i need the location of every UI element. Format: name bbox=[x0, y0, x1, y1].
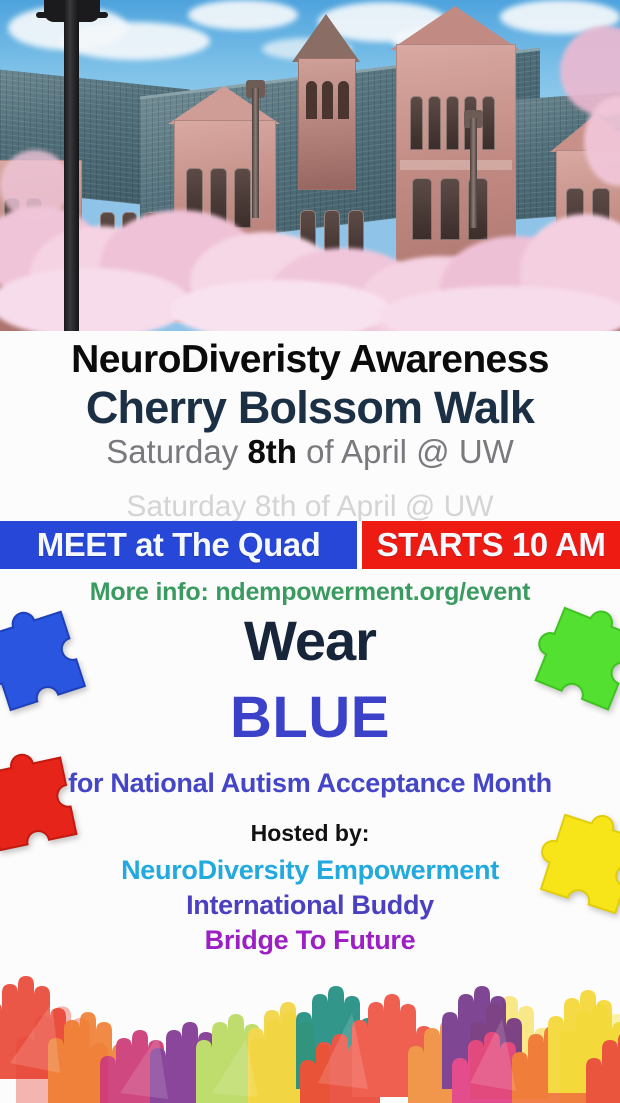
window bbox=[210, 168, 227, 228]
hosted-by-label: Hosted by: bbox=[0, 820, 620, 847]
header-photo bbox=[0, 0, 620, 331]
wear-label: Wear bbox=[0, 612, 620, 671]
window bbox=[324, 210, 340, 268]
residual-date-text: Saturday 8th of April @ UW bbox=[0, 490, 620, 524]
window bbox=[348, 210, 364, 268]
more-info-link[interactable]: More info: ndempowerment.org/event bbox=[0, 578, 620, 607]
window bbox=[4, 198, 20, 256]
host-organization: International Buddy bbox=[0, 890, 620, 921]
window bbox=[566, 188, 584, 254]
window bbox=[100, 212, 115, 266]
page-title: NeuroDiveristy Awareness bbox=[0, 339, 620, 380]
lamp-post bbox=[64, 0, 79, 331]
gable-peak bbox=[550, 114, 620, 152]
meet-location-banner: MEET at The Quad bbox=[0, 521, 357, 569]
date-day: 8th bbox=[247, 433, 297, 470]
window bbox=[428, 96, 441, 150]
event-date: Saturday 8th of April @ UW bbox=[0, 434, 620, 470]
start-time-banner: STARTS 10 AM bbox=[362, 521, 620, 569]
date-suffix: of April @ UW bbox=[297, 433, 514, 470]
host-organization: NeuroDiversity Empowerment bbox=[0, 855, 620, 886]
window bbox=[300, 210, 316, 268]
date-prefix: Saturday bbox=[106, 433, 247, 470]
turret bbox=[298, 58, 356, 190]
event-title: Cherry Bolssom Walk bbox=[0, 384, 620, 432]
window bbox=[234, 168, 251, 228]
window bbox=[144, 212, 159, 266]
window bbox=[186, 168, 203, 228]
raised-hands-illustration bbox=[0, 943, 620, 1103]
window bbox=[122, 212, 137, 266]
cloud bbox=[60, 22, 210, 60]
start-time-label: STARTS 10 AM bbox=[377, 526, 606, 564]
blue-label: BLUE bbox=[0, 688, 620, 749]
lamp-post bbox=[252, 88, 259, 218]
lamp-post bbox=[470, 118, 477, 228]
window bbox=[412, 178, 432, 240]
meet-location-label: MEET at The Quad bbox=[37, 526, 321, 564]
window bbox=[592, 188, 610, 254]
window bbox=[26, 198, 42, 256]
window bbox=[482, 96, 495, 150]
awareness-month-label: for National Autism Acceptance Month bbox=[0, 768, 620, 799]
window bbox=[410, 96, 423, 150]
turret-spire bbox=[292, 14, 360, 62]
title-block: NeuroDiveristy Awareness Cherry Bolssom … bbox=[0, 331, 620, 470]
window bbox=[440, 178, 460, 240]
window bbox=[446, 96, 459, 150]
cloud bbox=[188, 0, 298, 30]
flyer: NeuroDiveristy Awareness Cherry Bolssom … bbox=[0, 0, 620, 1103]
info-banner: MEET at The Quad STARTS 10 AM bbox=[0, 521, 620, 569]
